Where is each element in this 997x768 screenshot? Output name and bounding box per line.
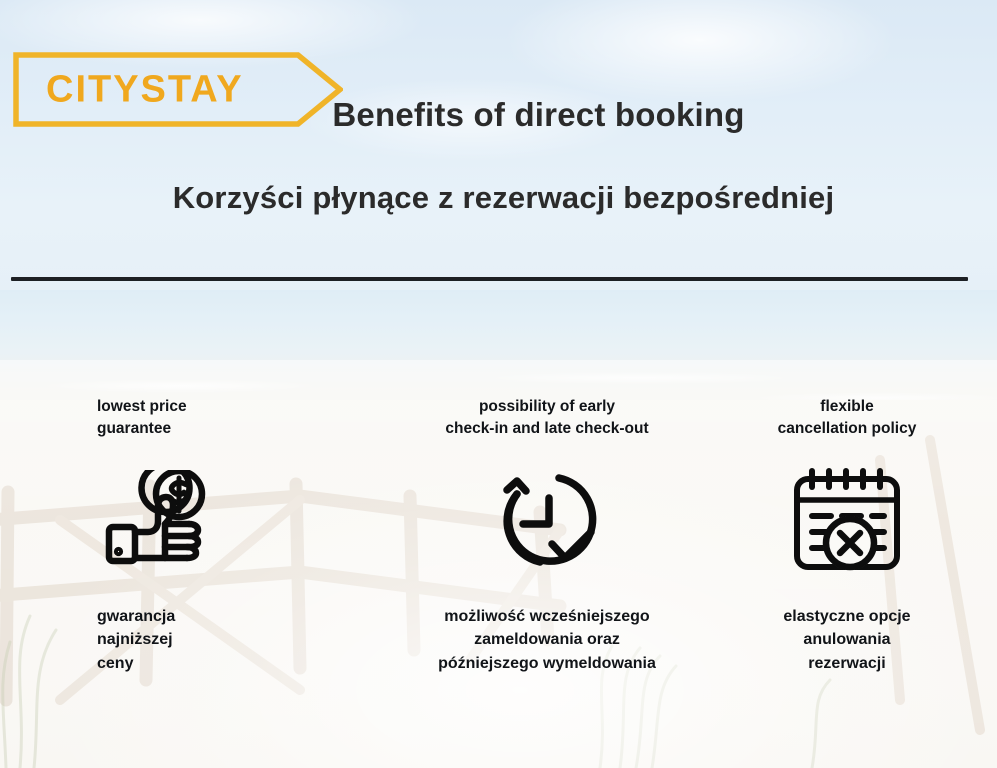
background-sky	[0, 0, 997, 300]
benefit-item-checkin-checkout: possibility of early check-in and late c…	[397, 396, 697, 716]
benefit-label-pl: możliwość wcześniejszego zameldowania or…	[438, 605, 656, 676]
benefit-label-en: possibility of early check-in and late c…	[445, 396, 648, 441]
calendar-cancel-icon	[792, 467, 902, 573]
thumbs-up-dollar-icon	[103, 470, 209, 570]
benefit-label-pl: elastyczne opcje anulowania rezerwacji	[783, 605, 910, 676]
benefit-item-cancellation: flexible cancellation policy	[697, 396, 997, 716]
benefit-label-en: lowest price guarantee	[97, 396, 187, 441]
page-title-english: Benefits of direct booking	[0, 96, 997, 134]
poster-canvas: CITYSTAY Benefits of direct booking Korz…	[0, 0, 997, 768]
benefit-item-lowest-price: lowest price guarantee	[0, 396, 397, 716]
benefits-row: lowest price guarantee	[0, 396, 997, 716]
benefit-icon-wrapper	[493, 455, 601, 585]
clock-refresh-check-icon	[497, 468, 601, 572]
header-divider	[11, 277, 968, 281]
benefit-label-pl: gwarancja najniższej ceny	[97, 605, 175, 676]
benefit-icon-wrapper	[97, 455, 209, 585]
page-title-polish: Korzyści płynące z rezerwacji bezpośredn…	[0, 180, 997, 216]
benefit-label-en: flexible cancellation policy	[778, 396, 917, 441]
benefit-icon-wrapper	[792, 455, 902, 585]
